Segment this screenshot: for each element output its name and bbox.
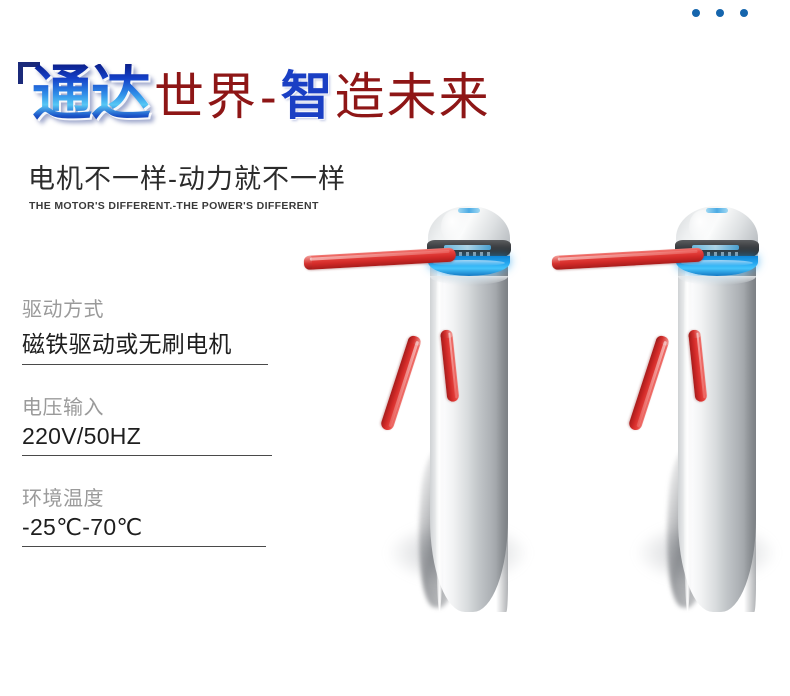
subheadline-english: THE MOTOR'S DIFFERENT.-THE POWER'S DIFFE… <box>29 200 319 212</box>
tripod-turnstile-right <box>548 192 790 622</box>
turnstile-arm-lower-left <box>628 334 671 431</box>
spec-value-drive: 磁铁驱动或无刷电机 <box>22 325 268 365</box>
subheadline-chinese: 电机不一样-动力就不一样 <box>28 157 346 196</box>
head-gloss <box>689 210 717 243</box>
arm-highlight <box>637 341 668 428</box>
top-indicator-icon <box>458 208 480 213</box>
product-banner: { "page": { "background_color": "#ffffff… <box>0 0 790 696</box>
arm-highlight <box>310 250 450 261</box>
spec-value-temperature: -25℃-70℃ <box>22 514 266 547</box>
headline-part-red-2: 造未来 <box>335 72 491 124</box>
top-right-dots <box>692 9 748 17</box>
headline-part-red-1: 世界 <box>154 72 258 124</box>
dot-icon-1 <box>692 9 700 17</box>
spec-item-temperature: 环境温度 -25℃-70℃ <box>22 482 272 547</box>
pillar-edge-shading <box>744 244 756 612</box>
spec-item-drive: 驱动方式 磁铁驱动或无刷电机 <box>22 293 272 365</box>
top-indicator-icon <box>706 208 728 213</box>
headline-part-blue-solid: 智 <box>279 71 335 124</box>
spec-item-voltage: 电压输入 220V/50HZ <box>22 391 272 456</box>
spec-value-voltage: 220V/50HZ <box>22 423 272 456</box>
pillar-edge-shading <box>496 244 508 612</box>
head-gloss <box>441 210 469 243</box>
turnstile-pillar <box>678 244 756 612</box>
spec-label-drive: 驱动方式 <box>22 293 272 322</box>
dot-icon-3 <box>740 9 748 17</box>
tripod-turnstile-left <box>300 192 550 622</box>
spec-label-temperature: 环境温度 <box>22 482 272 511</box>
headline-dash: - <box>258 72 279 124</box>
arm-highlight <box>558 250 698 261</box>
dot-icon-2 <box>716 9 724 17</box>
spec-list: 驱动方式 磁铁驱动或无刷电机 电压输入 220V/50HZ 环境温度 -25℃-… <box>22 293 272 573</box>
headline: 通达 世界 - 智 造未来 <box>32 64 491 124</box>
arm-highlight <box>389 341 420 428</box>
turnstile-pillar <box>430 244 508 612</box>
spec-label-voltage: 电压输入 <box>22 391 272 420</box>
headline-part-blue-3d: 通达 <box>32 64 154 124</box>
turnstile-arm-lower-left <box>380 334 423 431</box>
headline-block: 通达 世界 - 智 造未来 <box>18 62 477 122</box>
